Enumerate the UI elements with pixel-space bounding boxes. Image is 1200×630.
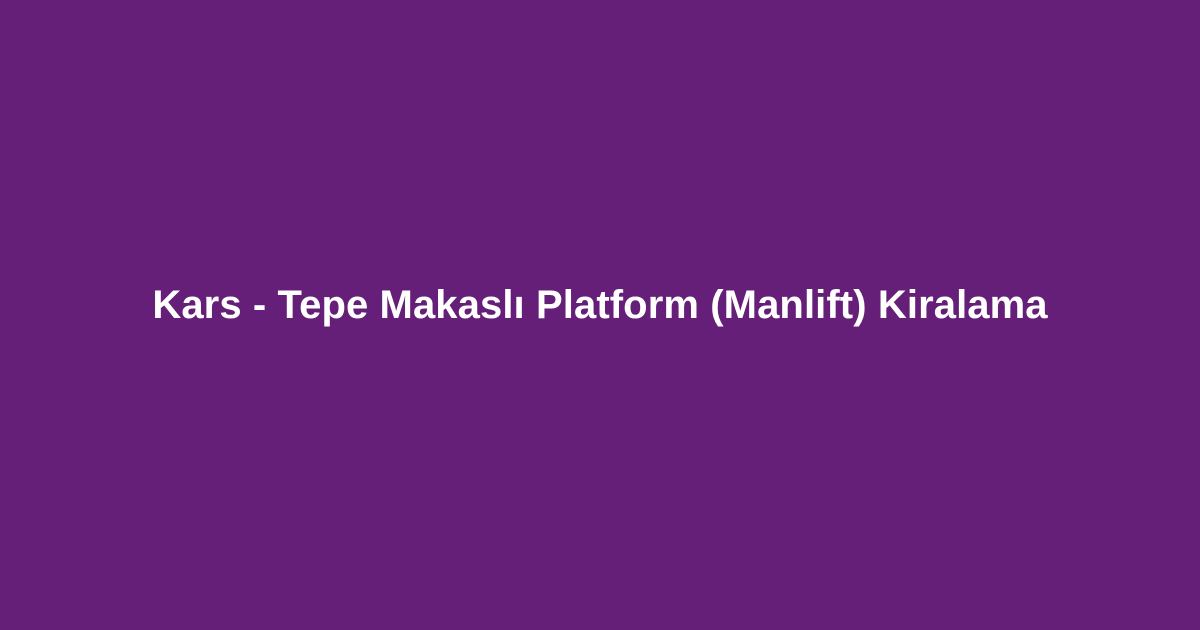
og-share-card: Kars - Tepe Makaslı Platform (Manlift) K…	[0, 0, 1200, 630]
title-block: Kars - Tepe Makaslı Platform (Manlift) K…	[120, 280, 1080, 330]
page-title: Kars - Tepe Makaslı Platform (Manlift) K…	[128, 280, 1072, 330]
